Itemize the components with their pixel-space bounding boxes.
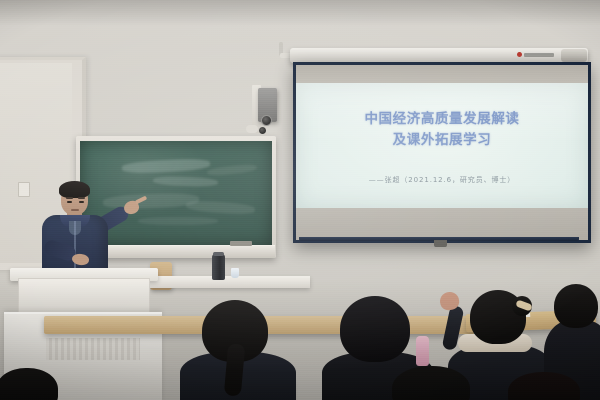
presentation-slide: 中国经济高质量发展解读 及课外拓展学习 ——张超（2021.12.6，研究员、博… bbox=[296, 83, 588, 208]
screen-letterbox-bottom bbox=[296, 208, 588, 240]
slide-title-line-1: 中国经济高质量发展解读 bbox=[296, 109, 588, 130]
chalk-smudge bbox=[122, 158, 211, 174]
pink-bottle bbox=[416, 336, 429, 366]
ceiling-shadow bbox=[0, 0, 600, 26]
presenter-mouth bbox=[71, 209, 79, 211]
front-row-head bbox=[392, 366, 470, 400]
student-ponytail bbox=[180, 300, 300, 400]
presenter-eye-left bbox=[67, 201, 72, 203]
student-head bbox=[554, 284, 598, 328]
camera-lens-icon bbox=[261, 115, 272, 126]
presenter-hair bbox=[59, 181, 90, 198]
podium-upper-panel bbox=[18, 278, 150, 316]
screen-letterbox-top bbox=[296, 65, 588, 83]
thermos-cap bbox=[213, 252, 224, 256]
student-head bbox=[340, 296, 410, 362]
projection-screen-surface: 中国经济高质量发展解读 及课外拓展学习 ——张超（2021.12.6，研究员、博… bbox=[296, 65, 588, 240]
podium-vent bbox=[46, 338, 140, 360]
chalk-smudge bbox=[206, 164, 257, 178]
slide-title-line-2: 及课外拓展学习 bbox=[296, 130, 588, 151]
slide-title: 中国经济高质量发展解读 及课外拓展学习 bbox=[296, 109, 588, 151]
presenter-eyebrow-left bbox=[66, 197, 73, 199]
camera-lens-secondary-icon bbox=[259, 127, 266, 134]
front-ledge bbox=[150, 276, 310, 288]
roller-label bbox=[524, 53, 554, 57]
projection-screen: 中国经济高质量发展解读 及课外拓展学习 ——张超（2021.12.6，研究员、博… bbox=[293, 62, 591, 243]
screen-pull-tab[interactable] bbox=[434, 240, 447, 247]
blackboard-eraser[interactable] bbox=[230, 241, 252, 246]
small-cup bbox=[231, 268, 239, 278]
wall-knob bbox=[246, 125, 258, 133]
light-switch[interactable] bbox=[18, 182, 30, 197]
presenter-eye-right bbox=[79, 201, 84, 203]
classroom-photo: 中国经济高质量发展解读 及课外拓展学习 ——张超（2021.12.6，研究员、博… bbox=[0, 0, 600, 400]
roller-end-cap bbox=[561, 49, 587, 62]
slide-subtitle: ——张超（2021.12.6，研究员、博士） bbox=[296, 175, 588, 185]
chalk-smudge bbox=[153, 176, 219, 188]
roller-indicator-icon bbox=[517, 52, 522, 57]
thermos-bottle bbox=[212, 254, 225, 280]
chalk-smudge bbox=[185, 199, 255, 214]
chalk-smudge bbox=[138, 217, 219, 225]
projection-screen-roller bbox=[290, 48, 588, 63]
presenter-eyebrow-right bbox=[78, 197, 85, 199]
